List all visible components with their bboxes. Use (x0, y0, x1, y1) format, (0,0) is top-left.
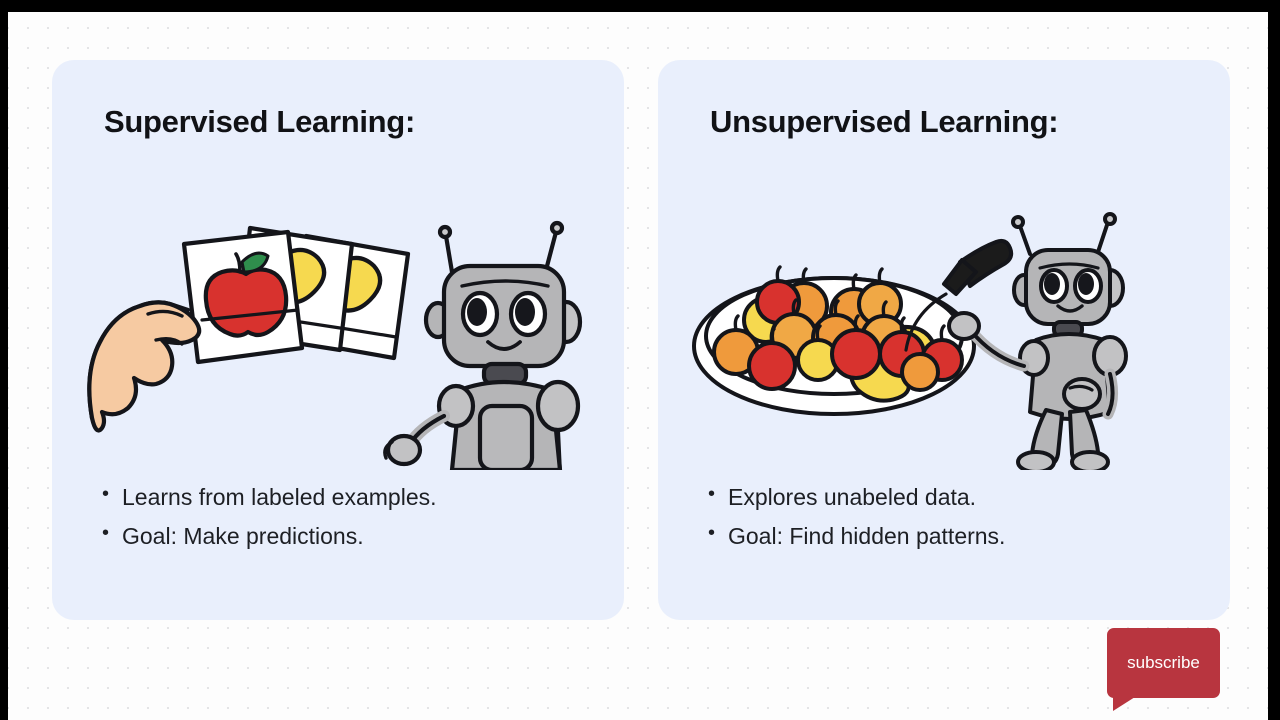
pen (944, 241, 1011, 294)
bullets-unsupervised: Explores unabeled data. Goal: Find hidde… (706, 478, 1005, 555)
flashcard-apple-front (184, 232, 302, 362)
illustration-unsupervised (658, 210, 1230, 470)
slide-canvas: Supervised Learning: (8, 12, 1268, 720)
fruit-bowl (694, 267, 974, 414)
screen: Supervised Learning: (0, 0, 1280, 720)
illustration-supervised (52, 210, 624, 470)
robot-supervised (385, 223, 580, 470)
list-item: Goal: Find hidden patterns. (706, 517, 1005, 556)
list-item: Explores unabeled data. (706, 478, 1005, 517)
list-item: Learns from labeled examples. (100, 478, 437, 517)
hand (89, 302, 199, 430)
card-title-supervised: Supervised Learning: (104, 104, 415, 140)
subscribe-button[interactable]: subscribe (1107, 628, 1220, 698)
card-title-unsupervised: Unsupervised Learning: (710, 104, 1058, 140)
list-item: Goal: Make predictions. (100, 517, 437, 556)
card-unsupervised-learning: Unsupervised Learning: (658, 60, 1230, 620)
bullets-supervised: Learns from labeled examples. Goal: Make… (100, 478, 437, 555)
card-supervised-learning: Supervised Learning: (52, 60, 624, 620)
